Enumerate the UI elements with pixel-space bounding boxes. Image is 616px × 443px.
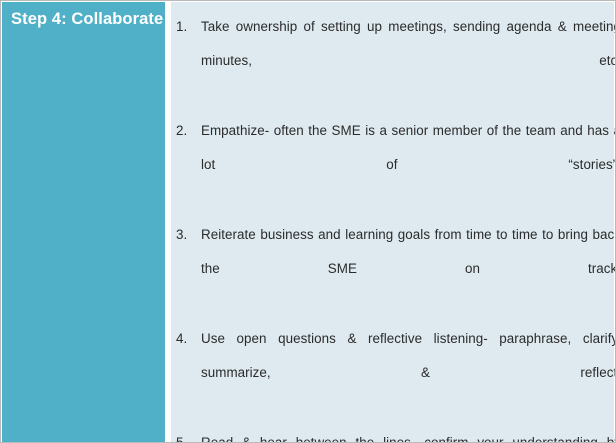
list-item-number: 5. <box>176 426 196 443</box>
steps-list: 1. Take ownership of setting up meetings… <box>171 10 614 443</box>
list-item-number: 1. <box>176 10 196 44</box>
list-item: 1. Take ownership of setting up meetings… <box>171 10 616 112</box>
list-item: 4. Use open questions & reflective liste… <box>171 322 616 424</box>
step-label-column: Step 4: Collaborate <box>2 2 165 443</box>
step-title: Step 4: Collaborate <box>11 9 161 29</box>
list-item: 2. Empathize- often the SME is a senior … <box>171 114 616 216</box>
list-item-number: 3. <box>176 218 196 252</box>
list-item-number: 4. <box>176 322 196 356</box>
step-panel: Step 4: Collaborate 1. Take ownership of… <box>0 0 616 443</box>
list-item-text: Take ownership of setting up meetings, s… <box>201 10 616 112</box>
step-content-column: 1. Take ownership of setting up meetings… <box>171 2 614 443</box>
list-item-text: Read & hear between the lines- confirm y… <box>201 426 616 443</box>
list-item-text: Reiterate business and learning goals fr… <box>201 218 616 320</box>
list-item-number: 2. <box>176 114 196 148</box>
list-item-text: Empathize- often the SME is a senior mem… <box>201 114 616 216</box>
list-item: 5. Read & hear between the lines- confir… <box>171 426 616 443</box>
list-item-text: Use open questions & reflective listenin… <box>201 322 616 424</box>
list-item: 3. Reiterate business and learning goals… <box>171 218 616 320</box>
